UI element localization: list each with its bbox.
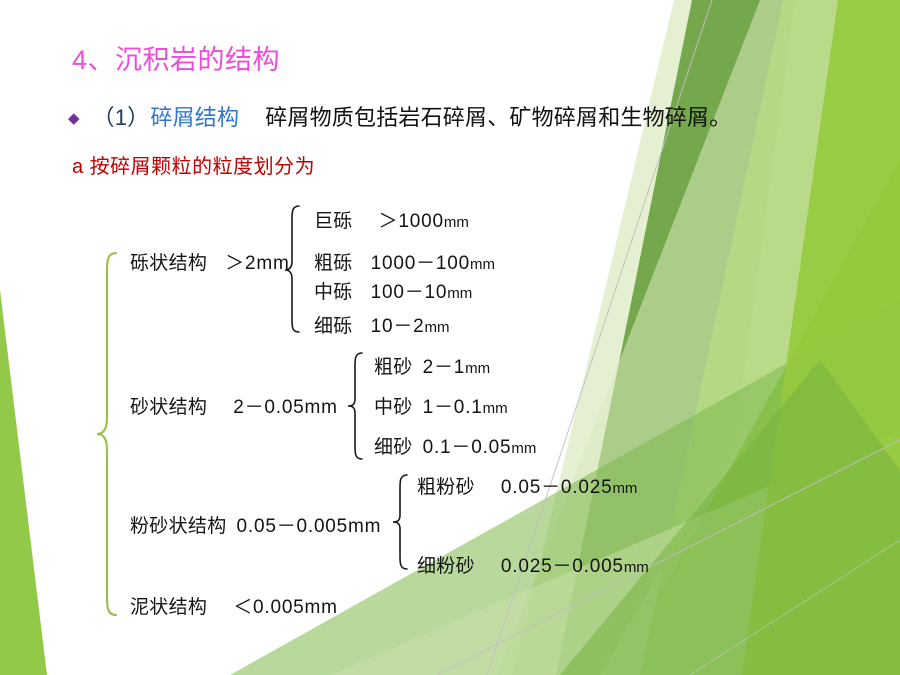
group-2-child-2: 细砂0.1－0.05mm bbox=[374, 432, 536, 459]
group-3-child-0: 粗粉砂0.05－0.025mm bbox=[417, 472, 637, 499]
bullet-number: （1） bbox=[93, 105, 150, 130]
child-range: 2－1 bbox=[423, 357, 466, 378]
main-brace bbox=[94, 250, 120, 618]
slide-canvas: 4、沉积岩的结构 ◆ （1）碎屑结构 碎屑物质包括岩石碎屑、矿物碎屑和生物碎屑。… bbox=[0, 0, 900, 675]
group-1-range: ＞2mm bbox=[225, 253, 289, 274]
group-3-child-1: 细粉砂0.025－0.005mm bbox=[417, 551, 649, 578]
child-unit: mm bbox=[483, 400, 508, 417]
group-3-name: 粉砂状结构 bbox=[130, 516, 227, 537]
child-name: 细砂 bbox=[374, 437, 413, 458]
child-unit: mm bbox=[511, 440, 536, 457]
bullet-heading: （1）碎屑结构 bbox=[93, 100, 240, 132]
child-unit: mm bbox=[465, 360, 490, 377]
child-range: 10－2 bbox=[371, 316, 425, 337]
child-name: 粗粉砂 bbox=[417, 477, 475, 498]
child-range: 0.1－0.05 bbox=[423, 437, 512, 458]
group-4-label: 泥状结构＜0.005mm bbox=[130, 592, 338, 619]
bullet-row: ◆ （1）碎屑结构 碎屑物质包括岩石碎屑、矿物碎屑和生物碎屑。 bbox=[68, 100, 731, 132]
group-1-brace bbox=[282, 203, 304, 335]
group-2-child-0: 粗砂2－1mm bbox=[374, 352, 490, 379]
group-2-child-1: 中砂1－0.1mm bbox=[374, 392, 508, 419]
child-range: 1－0.1 bbox=[423, 397, 483, 418]
group-1-label: 砾状结构＞2mm bbox=[130, 248, 290, 275]
child-range: 0.025－0.005 bbox=[501, 556, 624, 577]
child-name: 细砾 bbox=[314, 316, 353, 337]
child-unit: mm bbox=[624, 559, 649, 576]
group-3-brace bbox=[390, 472, 412, 572]
child-name: 巨砾 bbox=[314, 211, 353, 232]
group-2-range: 2－0.05mm bbox=[233, 397, 338, 418]
group-1-child-1: 粗砾1000－100mm bbox=[314, 248, 495, 275]
group-2-brace bbox=[345, 350, 367, 462]
page-title: 4、沉积岩的结构 bbox=[72, 44, 280, 76]
child-name: 中砂 bbox=[374, 397, 413, 418]
child-name: 粗砾 bbox=[314, 253, 353, 274]
bullet-description: 碎屑物质包括岩石碎屑、矿物碎屑和生物碎屑。 bbox=[265, 100, 731, 132]
sub-heading: a 按碎屑颗粒的粒度划分为 bbox=[72, 150, 315, 179]
bullet-term: 碎屑结构 bbox=[150, 105, 239, 130]
group-2-label: 砂状结构2－0.05mm bbox=[130, 392, 338, 419]
child-unit: mm bbox=[447, 285, 472, 302]
group-1-name: 砾状结构 bbox=[130, 253, 207, 274]
child-range: ＞1000 bbox=[379, 211, 444, 232]
group-4-range: ＜0.005mm bbox=[233, 597, 338, 618]
group-3-label: 粉砂状结构0.05－0.005mm bbox=[130, 511, 381, 538]
child-unit: mm bbox=[470, 256, 495, 273]
child-name: 粗砂 bbox=[374, 357, 413, 378]
group-1-child-3: 细砾10－2mm bbox=[314, 311, 450, 338]
diamond-bullet-icon: ◆ bbox=[68, 111, 80, 126]
group-4-name: 泥状结构 bbox=[130, 597, 207, 618]
child-unit: mm bbox=[612, 480, 637, 497]
child-range: 1000－100 bbox=[371, 253, 470, 274]
group-3-range: 0.05－0.005mm bbox=[237, 516, 382, 537]
child-name: 中砾 bbox=[314, 282, 353, 303]
child-unit: mm bbox=[444, 214, 469, 231]
group-2-name: 砂状结构 bbox=[130, 397, 207, 418]
child-name: 细粉砂 bbox=[417, 556, 475, 577]
child-range: 0.05－0.025 bbox=[501, 477, 613, 498]
child-unit: mm bbox=[425, 319, 450, 336]
group-1-child-2: 中砾100－10mm bbox=[314, 277, 472, 304]
child-range: 100－10 bbox=[371, 282, 448, 303]
group-1-child-0: 巨砾＞1000mm bbox=[314, 206, 469, 233]
